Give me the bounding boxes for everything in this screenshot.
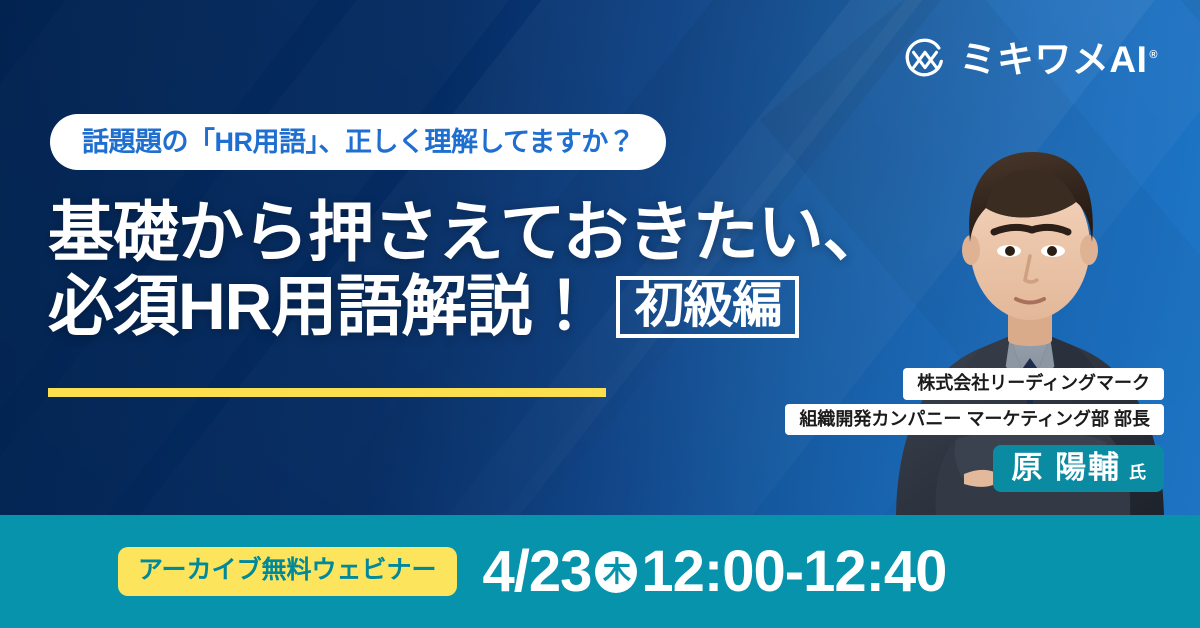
footer-bar: アーカイブ無料ウェビナー 4/23 木 12:00-12:40 bbox=[0, 515, 1200, 628]
headline-line-1: 基礎から押さえておきたい、 bbox=[48, 196, 888, 270]
brand-logo-label: ミキワメAI bbox=[959, 39, 1147, 80]
day-of-week-circle-icon: 木 bbox=[595, 551, 637, 593]
speaker-name-box: 原 陽輔 氏 bbox=[993, 445, 1164, 492]
level-badge-text: 初級編 bbox=[634, 280, 781, 330]
eyebrow-text: 話題題の「HR用語」、正しく理解してますか？ bbox=[82, 129, 634, 156]
speaker-company: 株式会社リーディングマーク bbox=[903, 368, 1164, 400]
free-webinar-badge: アーカイブ無料ウェビナー bbox=[118, 547, 457, 596]
registered-mark-icon: ® bbox=[1149, 49, 1158, 61]
headline-row-2: 必須HR用語解説！ 初級編 bbox=[48, 270, 888, 344]
event-datetime: 4/23 木 12:00-12:40 bbox=[483, 543, 947, 601]
brand-logo: ミキワメAI® bbox=[902, 36, 1158, 82]
headline-block: 基礎から押さえておきたい、 必須HR用語解説！ 初級編 bbox=[48, 196, 888, 344]
headline-underline bbox=[48, 388, 606, 397]
speaker-name-suffix: 氏 bbox=[1129, 464, 1146, 481]
event-time-range: 12:00-12:40 bbox=[641, 543, 946, 601]
mikiwame-mark-icon bbox=[902, 36, 948, 82]
level-badge: 初級編 bbox=[616, 276, 799, 338]
eyebrow-pill: 話題題の「HR用語」、正しく理解してますか？ bbox=[50, 114, 666, 170]
headline-line-2: 必須HR用語解説！ bbox=[48, 270, 596, 344]
webinar-banner: ミキワメAI® 話題題の「HR用語」、正しく理解してますか？ 基礎から押さえてお… bbox=[0, 0, 1200, 628]
brand-logo-text: ミキワメAI® bbox=[959, 41, 1158, 78]
speaker-department: 組織開発カンパニー マーケティング部 部長 bbox=[785, 404, 1164, 436]
speaker-info: 株式会社リーディングマーク 組織開発カンパニー マーケティング部 部長 原 陽輔… bbox=[785, 368, 1164, 492]
free-webinar-badge-text: アーカイブ無料ウェビナー bbox=[138, 556, 437, 584]
speaker-name: 原 陽輔 bbox=[1011, 452, 1121, 483]
event-date: 4/23 bbox=[483, 543, 592, 601]
